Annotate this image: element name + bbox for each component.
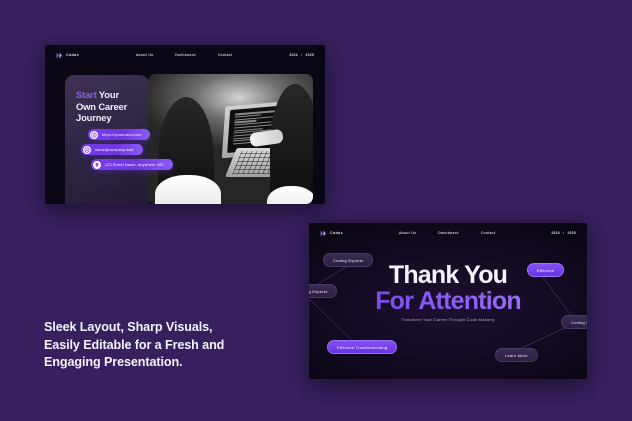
year-badge-left: 2024 (551, 231, 560, 235)
contact-pill-address-text: 123 Street Name, Anywhere 400 (105, 163, 164, 167)
nav-link-about-us[interactable]: About Us (399, 231, 416, 235)
caption-line-2: Easily Editable for a Fresh and (44, 338, 224, 352)
headline-accent-word: Start (76, 89, 97, 100)
tag-coding-experts-edge[interactable]: Coding Experts (308, 284, 337, 298)
headline-line2: Own Career (76, 101, 127, 112)
slide-two[interactable]: Codux About Us Dashboard Contact 2024 20… (308, 222, 588, 380)
photo-person-left-shirt (155, 175, 221, 204)
mail-icon (83, 146, 91, 154)
slide-one[interactable]: Codux About Us Dashboard Contact 2024 20… (45, 45, 325, 204)
globe-icon (90, 131, 98, 139)
promo-caption: Sleek Layout, Sharp Visuals, Easily Edit… (44, 319, 274, 372)
brand-logo[interactable]: Codux (56, 52, 79, 59)
nav-link-contact[interactable]: Contact (481, 231, 496, 235)
tag-effective-troubleshooting[interactable]: Effective Troubleshooting (327, 340, 397, 354)
brand-name: Codux (66, 53, 79, 57)
year-badge-right: 2025 (305, 53, 314, 57)
presentation-mockup-canvas: Codux About Us Dashboard Contact 2024 20… (0, 0, 632, 421)
for-attention-title: For Attention (309, 288, 587, 314)
year-badge-left: 2024 (289, 53, 298, 57)
location-pin-icon (93, 161, 101, 169)
year-badge-right: 2025 (567, 231, 576, 235)
slide-two-year-badge: 2024 2025 (551, 231, 576, 235)
badge-separator-dot-icon (301, 54, 303, 56)
tag-learn-more[interactable]: Learn More (495, 348, 538, 362)
contact-pill-email-text: name@company.mail (95, 148, 134, 152)
logo-mark-icon (56, 52, 63, 59)
nav-link-dashboard[interactable]: Dashboard (438, 231, 458, 235)
slide-one-year-badge: 2024 2025 (289, 53, 314, 57)
headline-line1-rest: Your (97, 89, 119, 100)
slide-one-headline: Start Your Own Career Journey (76, 89, 154, 124)
slide-two-nav-links: About Us Dashboard Contact (399, 231, 496, 235)
nav-link-about-us[interactable]: About Us (136, 53, 153, 57)
nav-link-dashboard[interactable]: Dashboard (175, 53, 195, 57)
logo-mark-icon (320, 230, 327, 237)
tag-effective[interactable]: Effective (527, 263, 564, 277)
badge-separator-dot-icon (563, 232, 565, 234)
caption-line-3: Engaging Presentation. (44, 355, 182, 369)
contact-pill-website[interactable]: https://yourbrand.com (88, 129, 150, 140)
photo-image (148, 74, 313, 204)
brand-name: Codux (330, 231, 343, 235)
slide-one-navbar: Codux About Us Dashboard Contact 2024 20… (45, 45, 325, 65)
nav-link-contact[interactable]: Contact (218, 53, 233, 57)
tag-coding-experts-right[interactable]: Coding Experts (561, 315, 588, 329)
slide-two-subtitle: Transform Your Career Through Code Maste… (309, 317, 587, 322)
slide-one-photo (148, 74, 313, 204)
contact-pill-website-text: https://yourbrand.com (102, 133, 141, 137)
contact-pill-email[interactable]: name@company.mail (81, 144, 143, 155)
headline-line3: Journey (76, 112, 111, 123)
slide-two-navbar: Codux About Us Dashboard Contact 2024 20… (309, 223, 587, 243)
tag-coding-experts[interactable]: Coding Experts (323, 253, 373, 267)
slide-one-nav-links: About Us Dashboard Contact (136, 53, 233, 57)
contact-pill-address[interactable]: 123 Street Name, Anywhere 400 (91, 159, 173, 170)
caption-line-1: Sleek Layout, Sharp Visuals, (44, 320, 212, 334)
brand-logo[interactable]: Codux (320, 230, 343, 237)
